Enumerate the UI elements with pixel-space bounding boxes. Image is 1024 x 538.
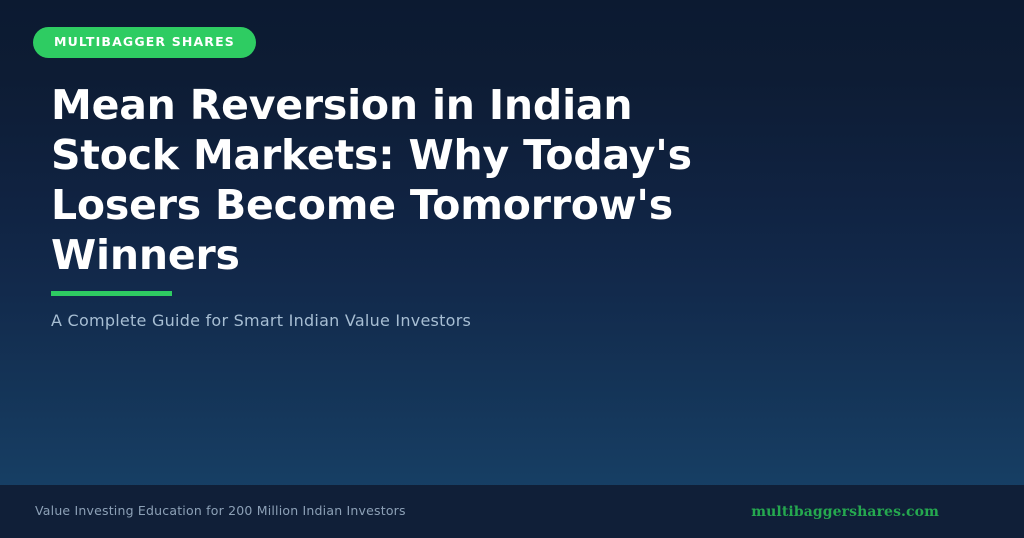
brand-badge: MULTIBAGGER SHARES <box>33 27 256 58</box>
page-title: Mean Reversion in Indian Stock Markets: … <box>51 80 711 280</box>
brand-badge-label: MULTIBAGGER SHARES <box>54 36 235 49</box>
footer-website-domain[interactable]: multibaggershares.com <box>751 505 989 519</box>
page-subtitle: A Complete Guide for Smart Indian Value … <box>51 310 471 332</box>
footer-tagline: Value Investing Education for 200 Millio… <box>35 505 406 518</box>
accent-divider <box>51 291 172 296</box>
article-cover-card: MULTIBAGGER SHARES Mean Reversion in Ind… <box>0 0 1024 538</box>
footer-bar: Value Investing Education for 200 Millio… <box>0 485 1024 538</box>
